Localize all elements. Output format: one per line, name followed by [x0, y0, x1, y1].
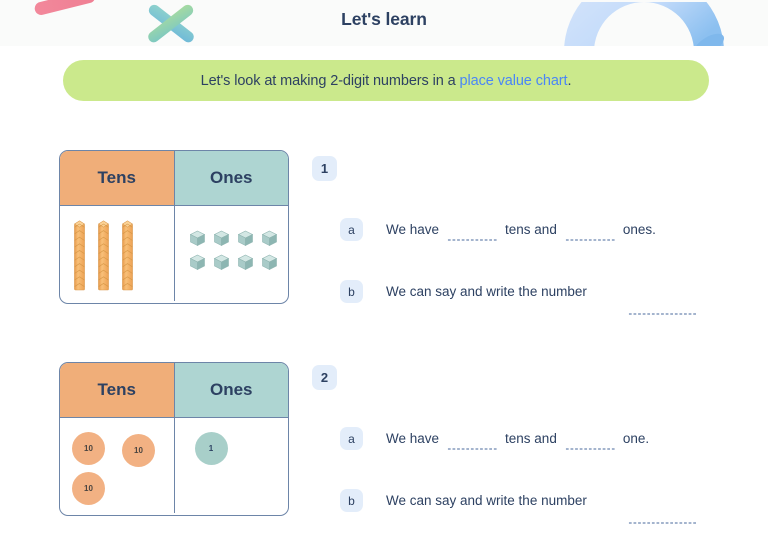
chart-1-body-row — [60, 206, 288, 301]
question-2-part-b-text: We can say and write the number — [386, 489, 587, 512]
tens-rod — [98, 220, 109, 292]
q2b-blank-1[interactable] — [628, 522, 696, 524]
question-2-part-a-badge: a — [340, 427, 363, 450]
place-value-chart-link[interactable]: place value chart — [460, 73, 568, 89]
q1a-segment-1: We have — [386, 222, 439, 237]
ones-cube — [261, 254, 278, 271]
q1b-blank-1[interactable] — [628, 313, 696, 315]
tens-counter: 10 — [72, 432, 105, 465]
q2a-segment-1: We have — [386, 431, 439, 446]
chart-2-tens-header: Tens — [60, 363, 175, 417]
tens-rods-group — [74, 220, 133, 292]
chart-2-tens-cell[interactable]: 101010 — [60, 418, 175, 513]
chart-2-body-row: 101010 1 — [60, 418, 288, 513]
page-title: Let's learn — [0, 9, 768, 30]
question-1-part-a-badge: a — [340, 218, 363, 241]
tens-counter: 10 — [122, 434, 155, 467]
question-1-part-b-text: We can say and write the number — [386, 280, 587, 303]
instruction-text-after: . — [567, 73, 571, 89]
question-2-part-a-text: We havetens andone. — [386, 427, 649, 450]
ones-cubes-group — [189, 230, 281, 271]
question-2-number-badge: 2 — [312, 365, 337, 390]
place-value-chart-2: Tens Ones 101010 1 — [59, 362, 289, 516]
chart-1-ones-cell[interactable] — [175, 206, 289, 301]
question-2-part-b-badge: b — [340, 489, 363, 512]
chart-2-ones-header: Ones — [175, 363, 289, 417]
lesson-page: Let's learn Let's look at making 2-digit… — [0, 0, 768, 550]
question-1-number-badge: 1 — [312, 156, 337, 181]
question-1: 1 a We havetens andones. b We can say an… — [312, 156, 337, 181]
question-1-part-a-text: We havetens andones. — [386, 218, 656, 241]
instruction-text: Let's look at making 2-digit numbers in … — [201, 73, 572, 89]
question-2-part-b: b We can say and write the number — [340, 489, 587, 512]
tens-counter: 10 — [72, 472, 105, 505]
page-header: Let's learn — [0, 0, 768, 46]
instruction-text-before: Let's look at making 2-digit numbers in … — [201, 73, 460, 89]
q1a-segment-2: tens and — [505, 222, 557, 237]
chart-1-ones-header: Ones — [175, 151, 289, 205]
q1b-segment-1: We can say and write the number — [386, 284, 587, 299]
tens-rod — [122, 220, 133, 292]
place-value-chart-1: Tens Ones — [59, 150, 289, 304]
instruction-banner: Let's look at making 2-digit numbers in … — [63, 60, 709, 101]
chart-1-header-row: Tens Ones — [60, 151, 288, 206]
chart-1-tens-header: Tens — [60, 151, 175, 205]
ones-cube — [189, 230, 206, 247]
ones-cube — [213, 254, 230, 271]
chart-1-tens-cell[interactable] — [60, 206, 175, 301]
q1a-segment-3: ones. — [623, 222, 656, 237]
ones-cube — [261, 230, 278, 247]
ones-cube — [237, 230, 254, 247]
question-1-part-b-badge: b — [340, 280, 363, 303]
chart-2-header-row: Tens Ones — [60, 363, 288, 418]
q2a-segment-2: tens and — [505, 431, 557, 446]
question-2: 2 a We havetens andone. b We can say and… — [312, 365, 337, 390]
ones-cube — [237, 254, 254, 271]
ones-counter: 1 — [195, 432, 228, 465]
q2b-segment-1: We can say and write the number — [386, 493, 587, 508]
q2a-segment-3: one. — [623, 431, 649, 446]
question-2-part-a: a We havetens andone. — [340, 427, 649, 450]
chart-2-ones-cell[interactable]: 1 — [175, 418, 289, 513]
question-1-part-b: b We can say and write the number — [340, 280, 587, 303]
ones-cube — [213, 230, 230, 247]
tens-rod — [74, 220, 85, 292]
ones-cube — [189, 254, 206, 271]
question-1-part-a: a We havetens andones. — [340, 218, 656, 241]
